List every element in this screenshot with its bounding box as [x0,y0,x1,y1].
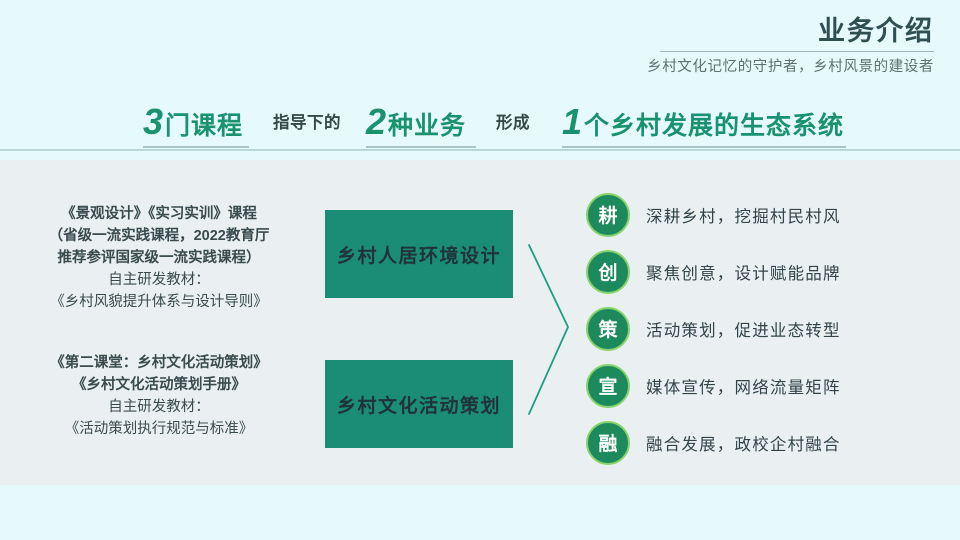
list-item-label: 融合发展，政校企村融合 [646,431,841,455]
course-line: （省级一流实践课程，2022教育厅 [9,225,309,247]
headline-underline-1 [143,146,249,148]
page-title: 业务介绍 [818,16,934,47]
course-line: 《第二课堂：乡村文化活动策划》 [9,352,309,374]
badge-icon-rong: 融 [586,421,630,465]
headline-label-ecosystem: 个乡村发展的生态系统 [584,114,844,139]
headline-number-1: 1 [562,104,582,140]
list-item-label: 活动策划，促进业态转型 [646,317,841,341]
course-line: 自主研发教材： [9,396,309,418]
headline-segment-guide: 指导下的 [273,115,341,132]
list-item[interactable]: 耕 深耕乡村，挖掘村民村风 [586,192,841,237]
list-item[interactable]: 宣 媒体宣传，网络流量矩阵 [586,363,841,408]
headline-segment-courses: 3 门课程 [143,104,243,140]
title-underline [660,51,934,52]
course-line: 推荐参评国家级一流实践课程） [9,247,309,269]
course-line: 《乡村文化活动策划手册》 [9,374,309,396]
headline-segment-ecosystem: 1 个乡村发展的生态系统 [562,104,844,140]
business-box-label: 乡村人居环境设计 [337,241,501,268]
list-item[interactable]: 策 活动策划，促进业态转型 [586,306,841,351]
badge-icon-geng: 耕 [586,193,630,237]
course-block-1: 《景观设计》《实习实训》课程 （省级一流实践课程，2022教育厅 推荐参评国家级… [9,203,309,313]
page-subtitle: 乡村文化记忆的守护者，乡村风景的建设者 [647,55,934,76]
list-item-label: 媒体宣传，网络流量矩阵 [646,374,841,398]
headline-segment-form: 形成 [496,115,530,132]
course-block-2: 《第二课堂：乡村文化活动策划》 《乡村文化活动策划手册》 自主研发教材： 《活动… [9,352,309,440]
headline-underline-3 [562,146,846,148]
course-line: 《活动策划执行规范与标准》 [9,418,309,440]
header-block: 业务介绍 [818,16,934,47]
headline-segment-business: 2 种业务 [366,104,466,140]
list-item-label: 深耕乡村，挖掘村民村风 [646,203,841,227]
badge-icon-ce: 策 [586,307,630,351]
outcome-list: 耕 深耕乡村，挖掘村民村风 创 聚焦创意，设计赋能品牌 策 活动策划，促进业态转… [586,192,841,477]
course-line: 自主研发教材： [9,269,309,291]
slide-canvas: 业务介绍 乡村文化记忆的守护者，乡村风景的建设者 3 门课程 指导下的 2 种业… [0,0,960,540]
business-box-living-environment[interactable]: 乡村人居环境设计 [325,210,513,298]
headline-row: 3 门课程 指导下的 2 种业务 形成 1 个乡村发展的生态系统 [0,100,960,148]
badge-icon-xuan: 宣 [586,364,630,408]
headline-connector-text-2: 形成 [496,115,530,132]
headline-label-courses: 门课程 [165,114,243,139]
badge-icon-chuang: 创 [586,250,630,294]
list-item[interactable]: 创 聚焦创意，设计赋能品牌 [586,249,841,294]
list-item[interactable]: 融 融合发展，政校企村融合 [586,420,841,465]
course-line: 《乡村风貌提升体系与设计导则》 [9,291,309,313]
header-divider-rule [0,149,960,151]
list-item-label: 聚焦创意，设计赋能品牌 [646,260,841,284]
course-line: 《景观设计》《实习实训》课程 [9,203,309,225]
headline-number-2: 2 [366,104,386,140]
business-box-label: 乡村文化活动策划 [337,391,501,418]
headline-label-business: 种业务 [388,114,466,139]
headline-connector-text-1: 指导下的 [273,115,341,132]
business-box-cultural-events[interactable]: 乡村文化活动策划 [325,360,513,448]
headline-underline-2 [366,146,476,148]
headline-number-3: 3 [143,104,163,140]
